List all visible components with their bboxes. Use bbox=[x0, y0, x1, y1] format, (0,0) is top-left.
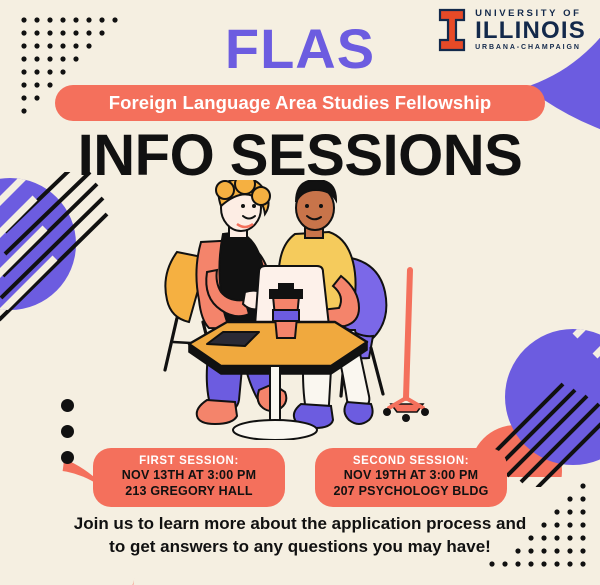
session-second-label: SECOND SESSION: bbox=[331, 455, 491, 467]
poster-footer-text: Join us to learn more about the applicat… bbox=[72, 512, 528, 559]
session-second-datetime: NOV 19TH AT 3:00 PM bbox=[331, 468, 491, 484]
session-first-datetime: NOV 13TH AT 3:00 PM bbox=[109, 468, 269, 484]
session-pills-row: FIRST SESSION: NOV 13TH AT 3:00 PM 213 G… bbox=[0, 448, 600, 507]
session-first-label: FIRST SESSION: bbox=[109, 455, 269, 467]
illinois-block-i-icon bbox=[437, 8, 467, 52]
illustration-two-people-at-table bbox=[155, 180, 465, 440]
session-pill-first: FIRST SESSION: NOV 13TH AT 3:00 PM 213 G… bbox=[93, 448, 285, 507]
university-of-illinois-logo: UNIVERSITY OF ILLINOIS URBANA-CHAMPAIGN bbox=[437, 8, 586, 52]
flas-info-session-poster: UNIVERSITY OF ILLINOIS URBANA-CHAMPAIGN … bbox=[0, 0, 600, 585]
logo-line-campus: URBANA-CHAMPAIGN bbox=[475, 44, 586, 51]
session-pill-second: SECOND SESSION: NOV 19TH AT 3:00 PM 207 … bbox=[315, 448, 507, 507]
subtitle-text: Foreign Language Area Studies Fellowship bbox=[109, 92, 492, 114]
session-second-location: 207 PSYCHOLOGY BLDG bbox=[331, 484, 491, 500]
session-first-location: 213 GREGORY HALL bbox=[109, 484, 269, 500]
logo-line-illinois: ILLINOIS bbox=[475, 19, 586, 43]
subtitle-pill: Foreign Language Area Studies Fellowship bbox=[55, 85, 545, 121]
coat-rack-icon bbox=[383, 270, 429, 422]
poster-heading-info-sessions: INFO SESSIONS bbox=[0, 122, 600, 189]
